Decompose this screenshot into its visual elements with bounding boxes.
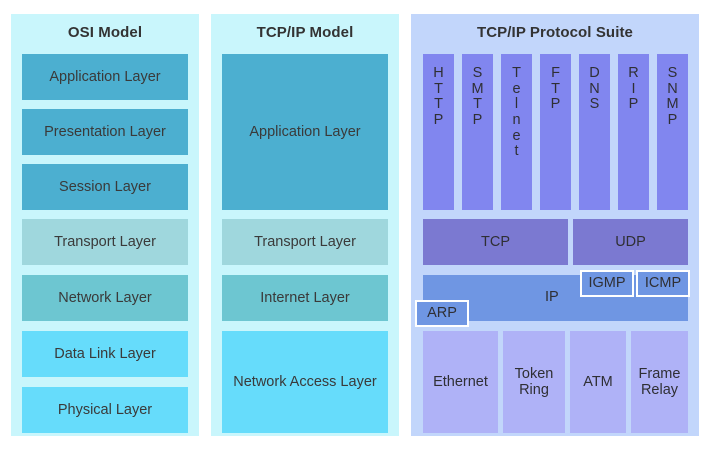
protocol-frame-relay[interactable]: Frame Relay <box>631 331 688 433</box>
protocol-telnet[interactable]: Telnet <box>501 54 532 210</box>
osi-layer-transport[interactable]: Transport Layer <box>22 219 188 265</box>
tcpip-layer-network-access[interactable]: Network Access Layer <box>222 331 388 433</box>
osi-model-title: OSI Model <box>11 22 199 44</box>
network-model-comparison-diagram: OSI Model Application Layer Presentation… <box>0 0 710 450</box>
protocol-smtp[interactable]: SMTP <box>462 54 493 210</box>
protocol-tcp[interactable]: TCP <box>423 219 568 265</box>
tcpip-layer-transport[interactable]: Transport Layer <box>222 219 388 265</box>
tcpip-model-panel: TCP/IP Model Application Layer Transport… <box>211 14 399 436</box>
osi-layer-physical[interactable]: Physical Layer <box>22 387 188 433</box>
osi-model-panel: OSI Model Application Layer Presentation… <box>11 14 199 436</box>
protocol-ftp[interactable]: FTP <box>540 54 571 210</box>
osi-layer-application[interactable]: Application Layer <box>22 54 188 100</box>
tcpip-protocol-suite-panel: TCP/IP Protocol Suite HTTP SMTP Telnet F… <box>411 14 699 436</box>
protocol-igmp[interactable]: IGMP <box>580 270 634 297</box>
protocol-token-ring[interactable]: Token Ring <box>503 331 565 433</box>
protocol-snmp[interactable]: SNMP <box>657 54 688 210</box>
protocol-http[interactable]: HTTP <box>423 54 454 210</box>
osi-layer-presentation[interactable]: Presentation Layer <box>22 109 188 155</box>
protocol-arp[interactable]: ARP <box>415 300 469 327</box>
protocol-ethernet[interactable]: Ethernet <box>423 331 498 433</box>
protocol-rip[interactable]: RIP <box>618 54 649 210</box>
tcpip-protocol-suite-title: TCP/IP Protocol Suite <box>411 22 699 44</box>
tcpip-model-title: TCP/IP Model <box>211 22 399 44</box>
osi-layer-data-link[interactable]: Data Link Layer <box>22 331 188 377</box>
tcpip-layer-internet[interactable]: Internet Layer <box>222 275 388 321</box>
protocol-udp[interactable]: UDP <box>573 219 688 265</box>
tcpip-layer-application[interactable]: Application Layer <box>222 54 388 210</box>
osi-layer-network[interactable]: Network Layer <box>22 275 188 321</box>
osi-layer-session[interactable]: Session Layer <box>22 164 188 210</box>
protocol-icmp[interactable]: ICMP <box>636 270 690 297</box>
protocol-atm[interactable]: ATM <box>570 331 626 433</box>
protocol-ip-label: IP <box>545 289 559 305</box>
protocol-dns[interactable]: DNS <box>579 54 610 210</box>
